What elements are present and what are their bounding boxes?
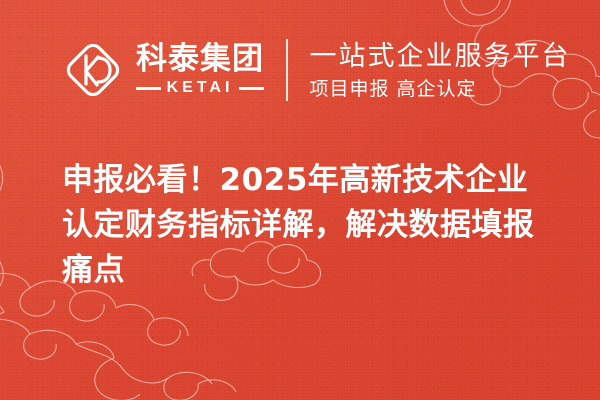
brand-rule-right: [239, 87, 264, 90]
brand-rule-left: [136, 87, 161, 90]
brand-name-en-row: KETAI: [136, 80, 264, 96]
brand-wordmark: 科泰集团 KETAI: [136, 44, 264, 96]
brand-name-en: KETAI: [167, 80, 234, 96]
brand-lockup[interactable]: 科泰集团 KETAI: [62, 39, 264, 101]
brand-name-cn: 科泰集团: [136, 44, 264, 75]
ketai-diamond-logo-icon: [62, 39, 124, 101]
page-title: 申报必看！2025年高新技术企业认定财务指标详解，解决数据填报痛点: [62, 158, 554, 293]
tagline-main: 一站式企业服务平台: [310, 41, 571, 72]
tagline-sub: 项目申报 高企认定: [310, 79, 571, 100]
tagline-block: 一站式企业服务平台 项目申报 高企认定: [310, 41, 571, 100]
header-divider: [286, 39, 288, 101]
promo-banner: 科泰集团 KETAI 一站式企业服务平台 项目申报 高企认定 申报必看！2025…: [0, 0, 600, 400]
header-band: 科泰集团 KETAI 一站式企业服务平台 项目申报 高企认定: [0, 0, 600, 140]
